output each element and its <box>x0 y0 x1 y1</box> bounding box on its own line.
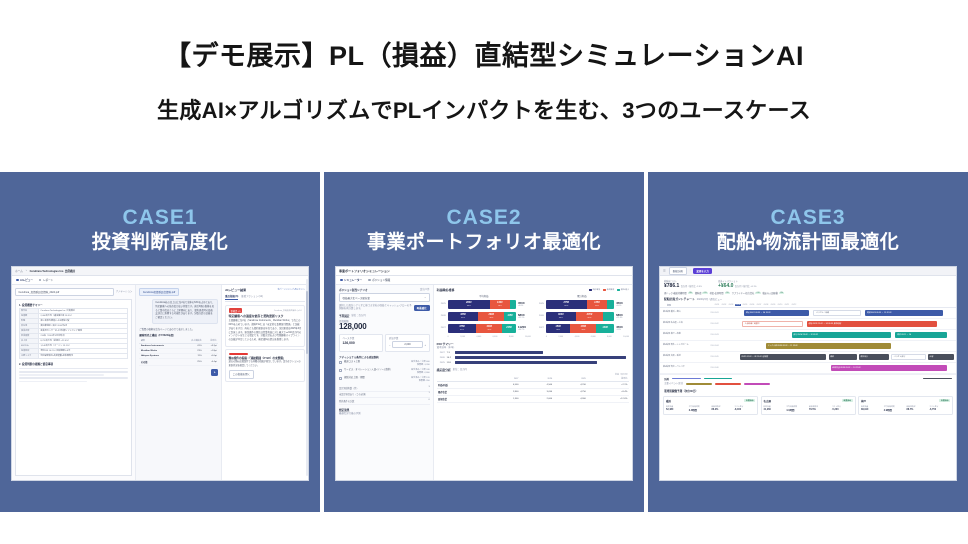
filter-label: 荷役・出港時間 <box>710 291 724 295</box>
budget-value: 128,000 <box>339 323 430 332</box>
open-finding-button[interactable]: この指摘を開く <box>229 370 255 378</box>
segment-pct: 38% <box>487 329 491 331</box>
base-plan-field[interactable]: ベース予算 126,000 <box>339 334 383 352</box>
legend-line-olive <box>686 383 712 385</box>
case-panel-2[interactable]: CASE2 事業ポートフォリオ最適化 事業ポートフォリオシミュレーション シミュ… <box>324 172 644 512</box>
bar-row[interactable]: 2026 300044% 270040% 6800+12.4% <box>535 312 629 321</box>
cell: 2,800 <box>486 389 520 396</box>
bar-segment-existing: 150036% <box>546 324 571 333</box>
legend-swatch <box>617 289 620 292</box>
gantt-task-bar[interactable]: 新規割当 05/06 09:00 → 13 21:00 <box>831 365 948 372</box>
doc-text-line <box>19 374 104 376</box>
page-title: 【デモ展示】PL（損益）直結型シミュレーションAI <box>0 40 968 72</box>
gantt-rows: 第1船団 横浜→釜山 VSL-2041 積込 05/01 08:00 → 04 … <box>660 308 956 374</box>
summary-value: 3 <box>428 386 429 390</box>
bar-segment-exit: 2150 <box>502 324 516 333</box>
c2-tab-bar[interactable]: シミュレーター ポジション情報 <box>336 276 632 285</box>
gantt-track[interactable]: 新規割当 05/06 09:00 → 13 21:00 <box>740 363 956 373</box>
c2-app-header: 事業ポートフォリオシミュレーション <box>336 267 632 276</box>
cell: 4,500 <box>486 382 520 389</box>
bar-segment-exit: 1150 <box>504 312 516 321</box>
port-card-header: 名古屋 改善済み <box>764 399 853 403</box>
customer-revenue-table: 顧客 売上構成比 前年比 Sandrose Instruments41%+3.2… <box>139 338 218 366</box>
stepper-plus-icon[interactable]: + <box>425 343 427 347</box>
filter-state: ON <box>755 292 760 295</box>
total-delta: +0.0% <box>518 305 531 307</box>
adjust-plan-field[interactable]: 追加予算 − 2,000 + <box>385 334 429 352</box>
chat-message-bubble: Cerulinna社の売上は上位2社で全体の64%を占めており、特定顧客への依存… <box>152 299 218 324</box>
sensitivity-title: 感応度分析 <box>437 368 451 372</box>
roi-bar-row: 2027 7.3 <box>437 351 629 354</box>
gantt-track[interactable]: 航行 05/04 10:00 → 10 22:00 荷役 05/11 → 14 <box>740 330 956 340</box>
x-tick: 10,000 <box>623 336 629 338</box>
gantt-task-bar-idle[interactable]: 入港待機 / 調整中 <box>742 321 803 328</box>
legend-swatch <box>603 289 606 292</box>
review-similar-card[interactable]: 類似案件の指摘：「連結範囲（FY22）の未整備」 過去の類似出資案件でも同種の指… <box>225 349 305 382</box>
x-tick: 0 <box>448 336 449 338</box>
metric: 船舶稼働率86.2% <box>712 404 733 412</box>
segment-pct: 38% <box>489 317 493 319</box>
metric-value: 79.5% <box>809 408 830 411</box>
kpi-unit: 百万円 / 前月比 +8.1% <box>735 286 757 288</box>
metric-value: 38,910 <box>861 408 882 411</box>
summary-row: 除外条件の計数0 <box>339 398 430 405</box>
status-badge: 要確認 (4) <box>229 308 243 313</box>
legend-label: 既存事業 <box>593 288 601 291</box>
x-tick: 2,000 <box>558 336 563 338</box>
metric-value: 88.7% <box>907 408 928 411</box>
metric-value: -5,200 <box>832 408 853 411</box>
app-title: 事業ポートフォリオシミュレーション <box>339 269 390 273</box>
legend-title: 凡例 <box>664 377 669 381</box>
case-3-number: CASE3 <box>648 206 968 229</box>
port-name: 名古屋 <box>764 399 772 403</box>
gantt-row[interactable]: 第1船団 横浜→釜山 VSL-2041 積込 05/01 08:00 → 04 … <box>660 308 956 319</box>
bar-segment-existing: 475042% <box>448 324 477 333</box>
metric: コスト差分-8,400 <box>734 404 755 412</box>
scrollbar-thumb[interactable] <box>306 291 308 354</box>
gantt-task-bar[interactable]: 05/01 00:00 → 06 12:00 定期便 <box>740 354 826 361</box>
bar-total: 6800+12.4% <box>616 313 629 319</box>
gantt-track[interactable]: 入港待機 / 調整中 遅延 05/05 12:00 → 14 09:00 要再配… <box>740 319 956 329</box>
status-badge: 改善済み <box>744 399 755 403</box>
total-delta: -1.8% <box>616 329 629 331</box>
roi-category: 2026 <box>437 357 445 359</box>
cell: +12.6% <box>587 396 629 403</box>
review-meta: Cerulinna_投資委員会資料 / p.14 <box>274 309 302 312</box>
filter-chip[interactable]: 積込み人員稼働ON <box>763 291 785 295</box>
chart-group-title: 累計利益 <box>535 294 629 298</box>
legend-line-magenta <box>744 383 770 385</box>
metric-value: 86.2% <box>712 408 733 411</box>
gantt-task-bar[interactable]: 荷揚 05/09 06:00 → 12 20:00 <box>865 310 943 317</box>
filter-chip[interactable]: サプライヤー・協力会社ON <box>732 291 761 295</box>
roi-bar-row: 2026 14.2 <box>437 356 629 359</box>
x-tick: 6,000 <box>493 336 498 338</box>
table-row: 主要リスク特定顧客依存・為替変動・技術陳腐化 <box>20 354 128 359</box>
tab-simulator[interactable]: シミュレーター <box>340 278 362 282</box>
cell: 25% <box>182 359 204 366</box>
budget-section-title: 予算固定 <box>339 314 349 318</box>
menu-icon[interactable]: ☰ <box>663 269 666 273</box>
c1-breadcrumb-bar: ホーム › Cerulinna Technologies Inc. 出資検討 <box>12 267 308 276</box>
gantt-row[interactable]: 第6船団 清水→バンコク VSL-2046 新規割当 05/06 09:00 →… <box>660 363 956 374</box>
kpi-number: +¥64.0 <box>718 283 733 289</box>
gantt-track[interactable]: ドック入渠 05/03 06:00 → 11 18:00 <box>740 341 956 351</box>
x-tick: 8,000 <box>607 336 612 338</box>
c1-document-column[interactable]: Cerulinna_投資委員会資料_2024.pdf アノテーション 1. 投資… <box>12 285 136 480</box>
port-metrics: 総取扱量41,260 平均待機時間4.1時間 船舶稼働率79.5% コスト差分-… <box>764 404 853 412</box>
segment-pct: 60% <box>564 305 568 307</box>
gantt-task-bar[interactable]: 航行 05/04 10:00 → 10 22:00 <box>792 332 891 339</box>
timeline-label: 期間 <box>664 304 713 307</box>
gantt-row[interactable]: 第3船団 神戸→高雄 VSL-2043 航行 05/04 10:00 → 10 … <box>660 330 956 341</box>
constraint-label: 撤退コスト上限 <box>344 361 409 364</box>
legend-line-blue <box>672 378 701 380</box>
tab-position-info[interactable]: ポジション情報 <box>368 278 390 282</box>
page-subtitle: 生成AI×アルゴリズムでPLインパクトを生む、3つのユースケース <box>0 98 968 124</box>
total-delta: +64.7% <box>518 329 531 331</box>
review-similar-body: 過去の類似出資案件でも同種の指摘が発生しています。該当セクションの更新状況を確認… <box>229 361 302 368</box>
bar-total: 4500+0.0% <box>518 301 531 307</box>
gantt-row-id: VSL-2044 <box>710 345 740 347</box>
segment-pct: 40% <box>588 317 592 319</box>
bar-row[interactable]: 2027 475042% 430038% 2150 11200+64.7% <box>437 324 531 333</box>
cell: -4.4pt <box>203 359 218 366</box>
constraint-values: 設定済み／上限 120 影響額 -950 <box>411 377 430 383</box>
bar-segment-new: 130028% <box>490 300 510 309</box>
breadcrumb-home[interactable]: ホーム <box>15 269 23 273</box>
metric-value: 52,480 <box>666 408 687 411</box>
case-2-number: CASE2 <box>324 206 644 229</box>
metric: 平均待機時間3.4時間 <box>689 404 710 412</box>
segment-pct: 30% <box>595 305 599 307</box>
bar-category: 2026 <box>437 315 446 317</box>
timeline-tick[interactable]: 05/06 <box>749 304 755 306</box>
row-value: 特定顧客依存・為替変動・技術陳腐化 <box>39 354 128 359</box>
x-tick: 8,000 <box>509 336 514 338</box>
tab-report[interactable]: レポート <box>39 278 53 282</box>
bar-total: 4500-1.8% <box>616 325 629 331</box>
metric: 平均待機時間2.9時間 <box>884 404 905 412</box>
c1-review-column[interactable]: AIレビュー結果 全ページジャンプ・再スキャン 重点指摘 (6) 推奨アクション… <box>222 285 308 480</box>
scenario-count: 該当 3 件 <box>420 288 430 292</box>
cell: 3,050 <box>520 389 554 396</box>
timeline-tick[interactable]: 05/10 <box>777 304 783 306</box>
toolbar-divider: | <box>690 269 691 272</box>
metric: 平均待機時間4.1時間 <box>786 404 807 412</box>
gantt-row[interactable]: 第2船団 名古屋→上海 VSL-2042 入港待機 / 調整中 遅延 05/05… <box>660 319 956 330</box>
chart-x-axis: 0 2,000 4,000 6,000 8,000 10,000 <box>535 336 629 338</box>
timeline-tick[interactable]: 05/08 <box>763 304 769 306</box>
breadcrumb-current: Cerulinna Technologies Inc. 出資検討 <box>30 269 76 273</box>
doc-text-line <box>19 377 128 379</box>
legend-item: 新規事業 <box>603 288 614 291</box>
scenario-select-value: 収益最大化ベース配分案 <box>343 296 370 300</box>
gantt-task-bar[interactable]: 出港 <box>928 354 954 361</box>
position-icon <box>368 279 371 282</box>
summary-key: 未設定項目あり（うち必須） <box>339 392 367 396</box>
port-metrics: 総取扱量52,480 平均待機時間3.4時間 船舶稼働率86.2% コスト差分-… <box>666 404 755 412</box>
bar-category: 2025 <box>437 303 446 305</box>
timeline-tick-selected[interactable]: 05/04 <box>735 304 741 306</box>
review-tab-actions[interactable]: 推奨アクション (12) <box>241 294 263 300</box>
gantt-task-bar[interactable]: 補給 <box>829 354 857 361</box>
chart-legend: 既存事業 新規事業 撤退・縮小 <box>589 288 629 291</box>
port-card-header: 横浜 改善済み <box>666 399 755 403</box>
metric: 総取扱量38,910 <box>861 404 882 412</box>
port-metrics: 総取扱量38,910 平均待機時間2.9時間 船舶稼働率88.7% コスト差分-… <box>861 404 950 412</box>
timeline-tick[interactable]: 05/05 <box>742 304 748 306</box>
case-2-header: CASE2 事業ポートフォリオ最適化 <box>324 172 644 254</box>
c2-body: ポジション割当シナリオ 該当 3 件 収益最大化ベース配分案 ⌄ 選択した配分シ… <box>336 285 632 480</box>
stacked-bar: 300044% 270040% <box>546 312 614 321</box>
metric: コスト差分-6,750 <box>929 404 950 412</box>
doc-text-line <box>19 368 128 370</box>
filter-chip[interactable]: 港ドック・船舶待機時間ON <box>664 291 693 295</box>
timeline-tick[interactable]: 05/01 <box>714 304 720 306</box>
x-tick: 6,000 <box>591 336 596 338</box>
constraint-label: サービス／オペレーション人員・リソース制約 <box>344 369 409 372</box>
port-name: 横浜 <box>666 399 671 403</box>
case-1-number: CASE1 <box>0 206 320 229</box>
cell: 4,500 <box>520 382 554 389</box>
legend-item: 撤退・縮小 <box>617 288 629 291</box>
status-badge: 改善済み <box>939 399 950 403</box>
gantt-row-id: VSL-2043 <box>710 334 740 336</box>
gantt-task-bar[interactable]: 荷役 05/11 → 14 <box>895 332 947 339</box>
legend-label: 新規事業 <box>607 288 615 291</box>
bar-segment-exit <box>607 300 614 309</box>
port-name: 神戸 <box>861 399 866 403</box>
c2-config-panel[interactable]: ポジション割当シナリオ 該当 3 件 収益最大化ベース配分案 ⌄ 選択した配分シ… <box>336 285 434 480</box>
gantt-task-bar-idle[interactable]: バラスト / 待機 <box>813 310 861 317</box>
c1-chat-column[interactable]: Cerulinna投資委員会資料.pdf Cerulinna社の売上は上位2社で… <box>136 285 222 480</box>
reoptimize-button[interactable]: 再最適化 <box>414 305 430 311</box>
gantt-row-name: 第3船団 神戸→高雄 <box>660 333 710 336</box>
case-2-name: 事業ポートフォリオ最適化 <box>324 232 644 254</box>
kpi-improvement: 改善インパクション +¥64.0 百万円 / 前月比 +8.1% <box>718 279 757 289</box>
port-card[interactable]: 名古屋 改善済み 総取扱量41,260 平均待機時間4.1時間 船舶稼働率79.… <box>761 396 856 416</box>
gantt-title: 配船計画ガントチャート <box>664 297 695 301</box>
table-row: 既存事業2,8003,0504,750+8.4% <box>437 389 629 396</box>
gantt-row-name: 第2船団 名古屋→上海 <box>660 322 710 325</box>
filter-state: ON <box>688 292 693 295</box>
roi-bar <box>455 361 597 364</box>
metric-value: 2.9時間 <box>884 408 905 412</box>
chart-group-cumulative: 累計利益 2025 275060% 135030% 4500+0.0% <box>535 294 629 338</box>
legend-line-teal <box>704 378 733 380</box>
metric-value: -6,750 <box>929 408 950 411</box>
cell: 4,700 <box>554 382 588 389</box>
gantt-row-id: VSL-2041 <box>710 312 740 314</box>
roi-value: 7.3 <box>447 352 453 354</box>
case-1-screenshot[interactable]: ホーム › Cerulinna Technologies Inc. 出資検討 A… <box>11 266 309 481</box>
gantt-task-bar[interactable]: 遅延 05/05 12:00 → 14 09:00 要再配船 <box>807 321 937 328</box>
gantt-row[interactable]: 第5船団 大阪→香港 VSL-2045 05/01 00:00 → 06 12:… <box>660 352 956 363</box>
filter-state: ON <box>779 292 784 295</box>
chart-group-average: 平均利益 2025 280064% 130028% 4500+0.0% <box>437 294 531 338</box>
plan-chip[interactable]: 配船計画 <box>669 267 687 275</box>
bar-total: 4500+0.0% <box>616 301 629 307</box>
bar-category: 2027 <box>437 327 446 329</box>
gantt-track[interactable]: 05/01 00:00 → 06 12:00 定期便 補給 荷役待ち バラスト航… <box>740 352 956 362</box>
legend-swatch <box>589 289 592 292</box>
review-heading: 特定顧客への過度な依存と契約更新リスク <box>229 315 302 319</box>
apply-changes-button[interactable]: 変更を入力 <box>693 268 712 274</box>
table-row: 利益・利益4,5004,5004,700+2.1% <box>437 382 629 389</box>
metric-value: 3.4時間 <box>689 408 710 412</box>
cell: +2.1% <box>587 382 629 389</box>
x-tick: 2,000 <box>460 336 465 338</box>
document-select[interactable]: Cerulinna_投資委員会資料_2024.pdf <box>15 288 114 296</box>
bar-row[interactable]: 2027 150036% 170038% 1300 4500-1.8% <box>535 324 629 333</box>
cell: その他 <box>139 359 181 366</box>
kpi-value: ¥786.1 百万円 / 前月比 -2.8% <box>664 283 702 289</box>
case-panel-3[interactable]: CASE3 配船・物流計画最適化 ☰ 配船計画 | 変更を入力 総輸送コスト ¥… <box>648 172 968 512</box>
gantt-row-name: 第4船団 博多→シンガポール <box>660 344 710 347</box>
constraint-v2: 影響額 -1,200 <box>411 364 430 367</box>
metric: 船舶稼働率88.7% <box>907 404 928 412</box>
gantt-track[interactable]: 積込 05/01 08:00 → 04 18:00 バラスト / 待機 荷揚 0… <box>740 308 956 318</box>
simulator-icon <box>340 279 343 282</box>
cell: 利益・利益 <box>437 382 487 389</box>
kpi-number: ¥786.1 <box>664 283 679 289</box>
timeline-tick[interactable]: 05/11 <box>784 304 790 306</box>
review-finding-card[interactable]: 要確認 (4) Cerulinna_投資委員会資料 / p.14 特定顧客への過… <box>225 305 305 347</box>
gantt-task-bar[interactable]: 積込 05/01 08:00 → 04 18:00 <box>744 310 809 317</box>
metric: コスト差分-5,200 <box>832 404 853 412</box>
tab-report-label: レポート <box>43 278 53 282</box>
tab-simulator-label: シミュレーター <box>344 278 362 282</box>
filter-chip[interactable]: 荷役・出港時間ON <box>710 291 730 295</box>
constraint-checkbox-row[interactable]: 撤退コスト上限 設定済み／上限 600 影響額 -1,200 <box>339 361 430 367</box>
timeline-tick[interactable]: 05/07 <box>756 304 762 306</box>
table-body: Sandrose Instruments41%+3.2pt Meridian W… <box>139 344 218 366</box>
checkbox-icon[interactable] <box>339 377 342 380</box>
checkbox-icon[interactable] <box>339 361 342 364</box>
constraint-checkbox-row[interactable]: サービス／オペレーション人員・リソース制約 設定済み／上限 240 影響額 -2… <box>339 369 430 375</box>
gantt-row-name: 第5船団 大阪→香港 <box>660 355 710 358</box>
constraint-checkbox-row[interactable]: 規制対応上限／期間 設定済み／上限 120 影響額 -950 <box>339 377 430 383</box>
tab-ai-review[interactable]: AIレビュー <box>16 278 33 282</box>
bar-row[interactable]: 2026 305045% 260038% 1150 6800+51.1% <box>437 312 531 321</box>
chevron-down-icon: ⌄ <box>424 296 426 300</box>
case-panel-1[interactable]: CASE1 投資判断高度化 ホーム › Cerulinna Technologi… <box>0 172 320 512</box>
doc-section2-title: 2. 投資判断の根拠と留意事項 <box>19 362 128 366</box>
bar-segment-exit <box>603 312 614 321</box>
cell: +8.4% <box>587 389 629 396</box>
case-1-header: CASE1 投資判断高度化 <box>0 172 320 254</box>
filter-state: ON <box>702 292 707 295</box>
scenario-select[interactable]: 収益最大化ベース配分案 ⌄ <box>339 293 430 301</box>
c2-results-panel[interactable]: 利益構成・推移 既存事業 新規事業 撤退・縮小 平均利益 <box>434 285 632 480</box>
gantt-task-bar[interactable]: ドック入渠 05/03 06:00 → 11 18:00 <box>766 343 891 350</box>
roi-bar <box>455 356 626 359</box>
review-icon <box>16 279 19 282</box>
case-2-screenshot[interactable]: 事業ポートフォリオシミュレーション シミュレーター ポジション情報 <box>335 266 633 481</box>
review-body: 主要顧客上位2社（Sandrose Instruments、Meridian W… <box>229 320 302 343</box>
cell: 新規事業 <box>437 396 487 403</box>
metric-value: 4.1時間 <box>786 408 807 412</box>
constraint-label: 規制対応上限／期間 <box>344 377 409 380</box>
bar-row[interactable]: 2025 275060% 135030% 4500+0.0% <box>535 300 629 309</box>
bar-category: 2027 <box>535 327 544 329</box>
port-card[interactable]: 横浜 改善済み 総取扱量52,480 平均待機時間3.4時間 船舶稼働率86.2… <box>663 396 758 416</box>
review-jump-link[interactable]: 全ページジャンプ・再スキャン <box>277 288 305 291</box>
checkbox-icon[interactable] <box>339 369 342 372</box>
legend-subtitle: 主要イベント区分 <box>664 382 683 386</box>
table-body: 利益・利益4,5004,5004,700+2.1% 既存事業2,8003,050… <box>437 382 629 403</box>
review-tab-key-findings[interactable]: 重点指摘 (6) <box>225 294 238 300</box>
annotation-label[interactable]: アノテーション <box>116 290 132 294</box>
stepper-minus-icon[interactable]: − <box>389 343 391 347</box>
x-tick: 10,000 <box>525 336 531 338</box>
case-3-header: CASE3 配船・物流計画最適化 <box>648 172 968 254</box>
document-viewer[interactable]: 1. 投資概要サマリー 案件名Cerulinna Technologies In… <box>15 299 132 476</box>
bar-row[interactable]: 2025 280064% 130028% 4500+0.0% <box>437 300 531 309</box>
gantt-row-name: 第1船団 横浜→釜山 <box>660 311 710 314</box>
review-panel-title: AIレビュー結果 <box>225 288 246 292</box>
case-3-screenshot[interactable]: ☰ 配船計画 | 変更を入力 総輸送コスト ¥786.1 百万円 / 前月比 -… <box>659 266 957 481</box>
metric: 総取扱量41,260 <box>764 404 785 412</box>
doc-summary-table: 案件名Cerulinna Technologies Inc. 出資検討 投資額2… <box>19 308 128 359</box>
case-3-name: 配船・物流計画最適化 <box>648 232 968 254</box>
gantt-row[interactable]: 第4船団 博多→シンガポール VSL-2044 ドック入渠 05/03 06:0… <box>660 341 956 352</box>
send-icon[interactable]: ➤ <box>211 369 218 376</box>
gantt-task-bar-idle[interactable]: バラスト航行 <box>891 354 926 361</box>
x-tick: 4,000 <box>476 336 481 338</box>
base-plan-value: 126,000 <box>343 341 380 345</box>
total-delta: +0.0% <box>616 305 629 307</box>
bar-total: 11200+64.7% <box>518 325 531 331</box>
gantt-row-id: VSL-2045 <box>710 356 740 358</box>
review-similar-title: 類似案件の指摘：「連結範囲（FY22）の未整備」 <box>229 357 302 361</box>
c1-body: Cerulinna_投資委員会資料_2024.pdf アノテーション 1. 投資… <box>12 285 308 480</box>
stacked-bar: 475042% 430038% 2150 <box>448 324 516 333</box>
cell: 1,300 <box>486 396 520 403</box>
bar-segment-existing: 305045% <box>448 312 479 321</box>
stacked-bar: 280064% 130028% <box>448 300 516 309</box>
gantt-task-bar[interactable]: 荷役待ち <box>859 354 889 361</box>
roi-bar-row: 2025 11.8 <box>437 361 629 364</box>
filter-chip[interactable]: 燃料費ON <box>695 291 708 295</box>
gantt-row-name: 第6船団 清水→バンコク <box>660 366 710 369</box>
timeline-tick[interactable]: 05/03 <box>728 304 734 306</box>
chat-followup-text: ご質問の根拠を該当ページとあわせて表示しました。 <box>139 327 218 331</box>
scenario-label: ポジション割当シナリオ <box>339 288 368 292</box>
doc-text-line <box>19 371 128 373</box>
port-card[interactable]: 神戸 改善済み 総取扱量38,910 平均待機時間2.9時間 船舶稼働率88.7… <box>858 396 953 416</box>
segment-pct: 38% <box>581 329 585 331</box>
timeline-tick[interactable]: 05/09 <box>770 304 776 306</box>
adjust-value[interactable]: 2,000 <box>392 341 423 348</box>
timeline-tick[interactable]: 05/02 <box>721 304 727 306</box>
presentation-slide: 【デモ展示】PL（損益）直結型シミュレーションAI 生成AI×アルゴリズムでPL… <box>0 0 968 544</box>
timeline-tick[interactable]: 05/12 <box>791 304 797 306</box>
c1-tab-bar[interactable]: AIレビュー レポート <box>12 276 308 285</box>
scrollbar[interactable] <box>306 279 308 476</box>
filter-label: 積込み人員稼働 <box>763 291 778 295</box>
chat-context-chip[interactable]: Cerulinna投資委員会資料.pdf <box>139 288 178 296</box>
x-tick: 4,000 <box>575 336 580 338</box>
port-summary-cards: 横浜 改善済み 総取扱量52,480 平均待機時間3.4時間 船舶稼働率86.2… <box>660 393 956 419</box>
c3-toolbar[interactable]: ☰ 配船計画 | 変更を入力 <box>660 267 956 276</box>
report-icon <box>39 279 42 282</box>
roi-category: 2027 <box>437 352 445 354</box>
segment-pct: 45% <box>461 317 465 319</box>
segment-pct: 42% <box>460 329 464 331</box>
